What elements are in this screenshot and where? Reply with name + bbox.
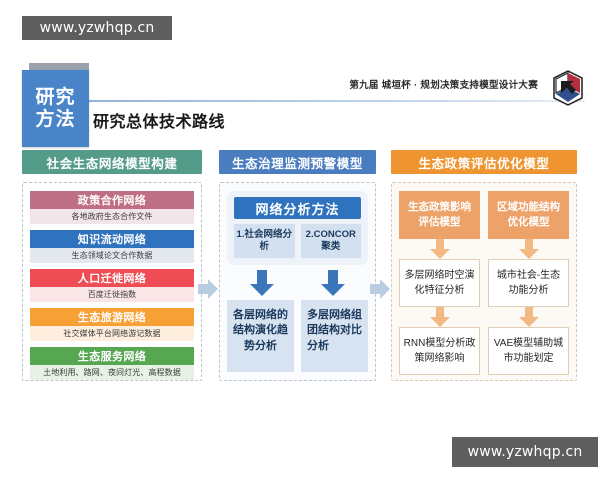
down-arrow-icon-branch1-step2 [399,307,480,327]
flow-columns: 社会生态网络模型构建 政策合作网络 各地政府生态合作文件 知识流动网络 生态领域… [0,150,600,450]
down-arrow-icon-branch1-step1 [399,239,480,259]
network-item-subtitle: 社交媒体平台网络游记数据 [30,326,194,341]
right-arrow-icon-between-col1-col2 [198,278,218,300]
network-item-migration[interactable]: 人口迁徙网络 百度迁徙指数 [30,269,194,302]
branch-model-box[interactable]: 区域功能结构优化模型 [488,191,569,239]
contest-banner-text: 第九届 城垣杯 · 规划决策支持模型设计大赛 [349,77,538,91]
network-item-subtitle: 百度迁徙指数 [30,287,194,302]
watermark-top: www.yzwhqp.cn [22,16,172,40]
slide-canvas: 研究 方法 研究总体技术路线 第九届 城垣杯 · 规划决策支持模型设计大赛 社会… [0,55,600,455]
down-arrow-icon-branch2-step1 [488,239,569,259]
column-3-header: 生态政策评估优化模型 [391,150,577,174]
method-pill-row: 1.社会网络分析 2.CONCOR聚类 [234,224,361,258]
result-box-structure-evolution[interactable]: 各层网络的结构演化趋势分析 [227,300,294,372]
network-item-service[interactable]: 生态服务网络 土地利用、路网、夜间灯光、高程数据 [30,347,194,380]
watermark-bottom-text: www.yzwhqp.cn [468,444,583,460]
down-arrow-icon-left [248,270,276,296]
watermark-bottom: www.yzwhqp.cn [452,437,598,467]
network-item-title: 生态服务网络 [30,347,194,365]
column-1-header: 社会生态网络模型构建 [22,150,202,174]
network-analysis-method-card: 网络分析方法 1.社会网络分析 2.CONCOR聚类 [227,191,368,265]
title-rule [85,100,585,102]
contest-cube-logo-icon [548,68,588,108]
right-branch-grid: 生态政策影响评估模型 多层网络时空演化特征分析 RNN模型分 [399,191,569,372]
network-item-subtitle: 各地政府生态合作文件 [30,209,194,224]
network-item-title: 政策合作网络 [30,191,194,209]
network-item-title: 知识流动网络 [30,230,194,248]
watermark-top-text: www.yzwhqp.cn [40,20,155,36]
branch-step-box[interactable]: VAE模型辅助城市功能划定 [488,327,569,375]
branch-step-box[interactable]: RNN模型分析政策网络影响 [399,327,480,375]
network-item-subtitle: 土地利用、路网、夜间灯光、高程数据 [30,365,194,380]
network-item-subtitle: 生态领域论文合作数据 [30,248,194,263]
badge-line-1: 研究 [35,87,75,108]
network-item-policy[interactable]: 政策合作网络 各地政府生态合作文件 [30,191,194,224]
column-eco-policy-evaluation: 生态政策评估优化模型 生态政策影响评估模型 多层网络时空演化特征分析 [391,150,577,381]
column-3-body: 生态政策影响评估模型 多层网络时空演化特征分析 RNN模型分 [391,182,577,381]
result-box-group-structure[interactable]: 多层网络组团结构对比分析 [301,300,368,372]
page-title: 研究总体技术路线 [93,108,225,132]
method-pill-concor[interactable]: 2.CONCOR聚类 [301,224,362,258]
middle-arrow-row [227,270,368,296]
column-1-body: 政策合作网络 各地政府生态合作文件 知识流动网络 生态领域论文合作数据 人口迁徙… [22,182,202,381]
method-card-title: 网络分析方法 [234,197,361,219]
column-2-header: 生态治理监测预警模型 [219,150,376,174]
network-item-title: 生态旅游网络 [30,308,194,326]
research-method-badge: 研究 方法 [22,70,89,147]
branch-functional-structure: 区域功能结构优化模型 城市社会-生态功能分析 VAE模型辅助 [488,191,569,372]
column-eco-governance-monitoring: 生态治理监测预警模型 网络分析方法 1.社会网络分析 2.CONCOR聚类 [219,150,376,381]
network-item-knowledge[interactable]: 知识流动网络 生态领域论文合作数据 [30,230,194,263]
column-social-ecological-network: 社会生态网络模型构建 政策合作网络 各地政府生态合作文件 知识流动网络 生态领域… [22,150,202,381]
method-pill-sna[interactable]: 1.社会网络分析 [234,224,295,258]
branch-model-box[interactable]: 生态政策影响评估模型 [399,191,480,239]
middle-result-row: 各层网络的结构演化趋势分析 多层网络组团结构对比分析 [227,300,368,372]
branch-policy-impact: 生态政策影响评估模型 多层网络时空演化特征分析 RNN模型分 [399,191,480,372]
down-arrow-icon-branch2-step2 [488,307,569,327]
branch-step-box[interactable]: 多层网络时空演化特征分析 [399,259,480,307]
network-item-tourism[interactable]: 生态旅游网络 社交媒体平台网络游记数据 [30,308,194,341]
branch-step-box[interactable]: 城市社会-生态功能分析 [488,259,569,307]
column-2-body: 网络分析方法 1.社会网络分析 2.CONCOR聚类 [219,182,376,381]
right-arrow-icon-between-col2-col3 [370,278,390,300]
badge-line-2: 方法 [35,109,75,130]
network-item-title: 人口迁徙网络 [30,269,194,287]
down-arrow-icon-right [319,270,347,296]
